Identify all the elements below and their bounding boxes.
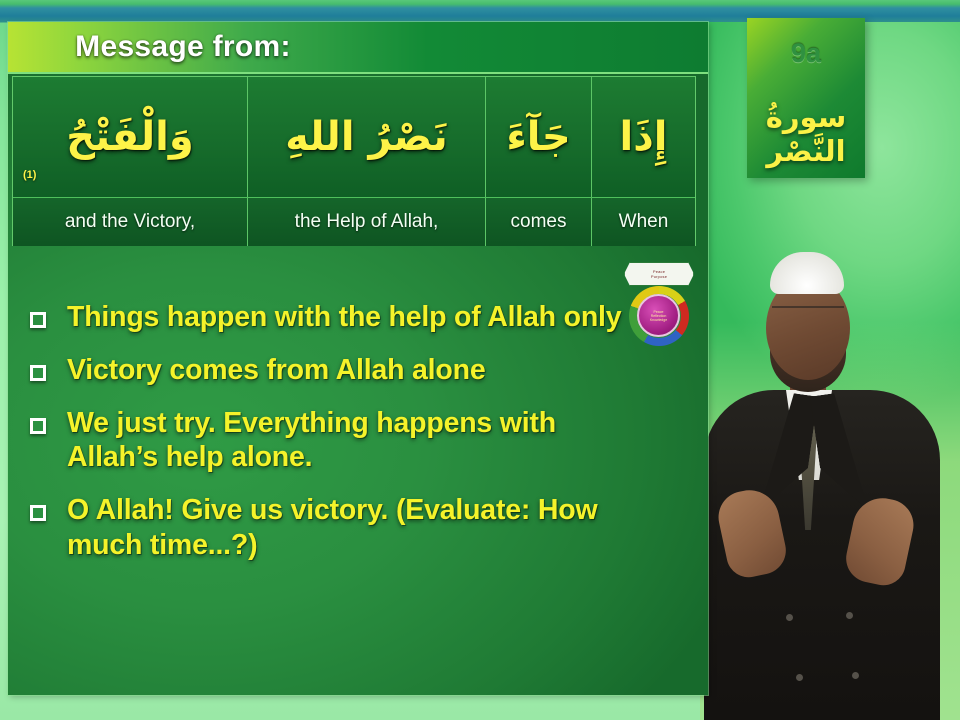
list-item: Victory comes from Allah alone [30, 353, 650, 388]
ayah-arabic-text: نَصْرُ اللهِ [285, 115, 448, 159]
slide-header-bar: Message from: [8, 22, 708, 74]
square-bullet-icon [30, 312, 46, 328]
suit-button [846, 612, 853, 619]
ayah-arabic-cell: إِذَا [591, 77, 695, 197]
ayah-translation-cell: the Help of Allah, [247, 198, 485, 246]
presenter-photo [700, 240, 960, 720]
logo-hub: Peace Reflection Knowledge [637, 294, 680, 337]
organization-logo: Peace Purpose Peace Reflection Knowledge [620, 262, 698, 362]
ayah-arabic-row: وَالْفَتْحُ (1) نَصْرُ اللهِ جَآءَ إِذَا [13, 77, 695, 197]
logo-banner: Peace Purpose [624, 262, 694, 286]
surah-badge: 9a سورةُ النَّصْر [747, 18, 865, 178]
ayah-translation-row: and the Victory, the Help of Allah, come… [13, 197, 695, 246]
bullet-text: Victory comes from Allah alone [67, 353, 485, 388]
bullet-text: We just try. Everything happens with All… [67, 406, 627, 476]
logo-banner-line: Purpose [651, 274, 667, 279]
ayah-arabic-cell: نَصْرُ اللهِ [247, 77, 485, 197]
ayah-arabic-cell: وَالْفَتْحُ (1) [13, 77, 247, 197]
bullet-text: O Allah! Give us victory. (Evaluate: How… [67, 493, 627, 563]
list-item: O Allah! Give us victory. (Evaluate: How… [30, 493, 650, 563]
surah-name: سورةُ النَّصْر [747, 100, 865, 168]
square-bullet-icon [30, 505, 46, 521]
ayah-arabic-text: جَآءَ [506, 115, 570, 159]
suit-button [796, 674, 803, 681]
suit-button [786, 614, 793, 621]
ayah-arabic-cell: جَآءَ [485, 77, 591, 197]
presenter-cap [770, 252, 844, 294]
square-bullet-icon [30, 418, 46, 434]
ayah-translation-cell: comes [485, 198, 591, 246]
ayah-arabic-text: إِذَا [620, 115, 668, 159]
slide-stage: Message from: وَالْفَتْحُ (1) نَصْرُ الل… [0, 0, 960, 720]
ayah-table: وَالْفَتْحُ (1) نَصْرُ اللهِ جَآءَ إِذَا… [12, 76, 696, 246]
suit-button [852, 672, 859, 679]
ayah-translation-cell: and the Victory, [13, 198, 247, 246]
presenter-glasses [772, 306, 844, 322]
ayah-translation-cell: When [591, 198, 695, 246]
logo-hub-line: Knowledge [650, 318, 667, 322]
bullet-list: Things happen with the help of Allah onl… [30, 300, 650, 581]
list-item: Things happen with the help of Allah onl… [30, 300, 650, 335]
ayah-translation-text: When [619, 211, 669, 233]
ayah-translation-text: and the Victory, [65, 211, 195, 233]
page-title: Message from: [8, 30, 708, 64]
ayah-number-mark: (1) [23, 169, 36, 181]
ayah-translation-text: the Help of Allah, [295, 211, 439, 233]
square-bullet-icon [30, 365, 46, 381]
lesson-number: 9a [747, 38, 865, 69]
ayah-translation-text: comes [511, 211, 567, 233]
bullet-text: Things happen with the help of Allah onl… [67, 300, 621, 335]
ayah-arabic-text: وَالْفَتْحُ [66, 115, 194, 159]
list-item: We just try. Everything happens with All… [30, 406, 650, 476]
